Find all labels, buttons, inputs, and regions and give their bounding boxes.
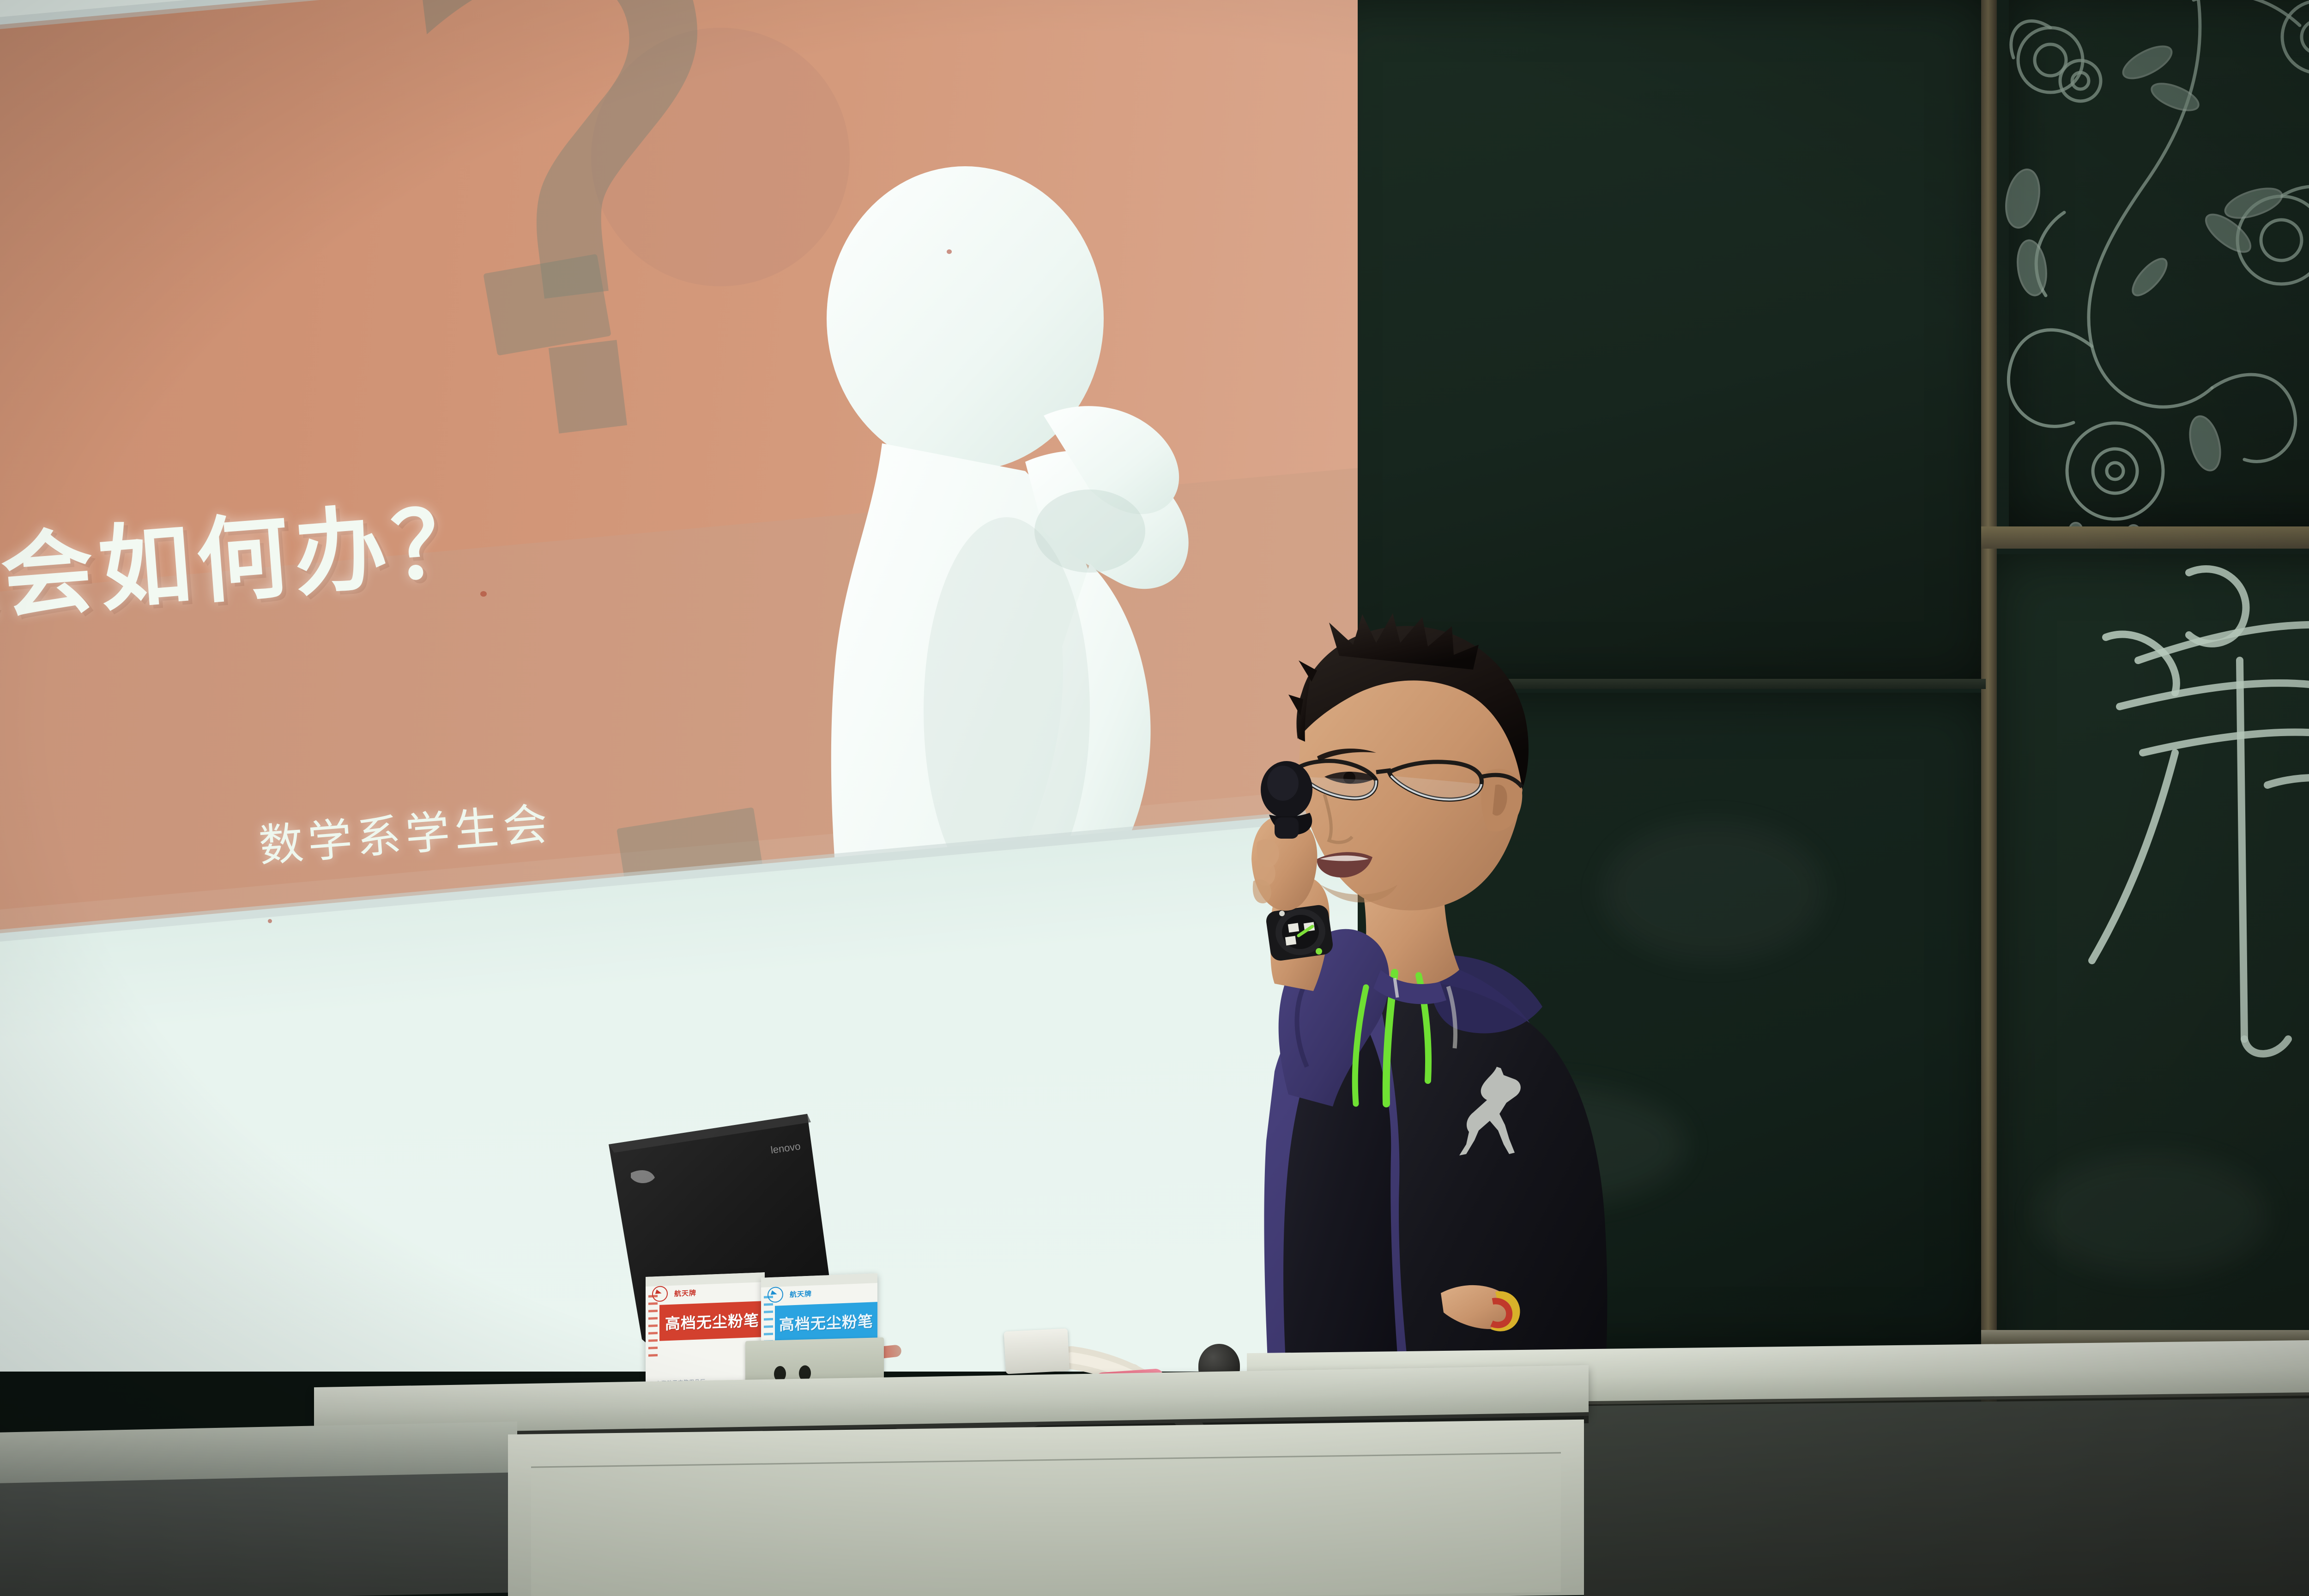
blackboard-frame-horizontal-1	[1981, 526, 2309, 549]
chalk-box-brand: 航天牌	[674, 1288, 696, 1298]
chalk-character-di	[2037, 554, 2309, 1062]
power-plug-adapter	[1004, 1328, 1070, 1374]
screen-speck	[947, 249, 952, 254]
chalk-box-brand: 航天牌	[790, 1288, 812, 1299]
podium-front-inner	[531, 1452, 1561, 1596]
screen-speck	[268, 919, 272, 923]
rocket-logo-icon	[768, 1287, 783, 1303]
lecture-hall-photo: 20070557 中国电信 资产编号 20070557 ?	[0, 0, 2309, 1596]
rocket-logo-icon	[652, 1286, 668, 1302]
chalk-box-product: 高档无尘粉笔	[779, 1309, 873, 1335]
blackboard-panel-left-top	[1316, 0, 1990, 688]
chalk-box-product: 高档无尘粉笔	[665, 1308, 759, 1334]
presenter	[1136, 600, 1736, 1409]
screen-speck	[480, 591, 487, 597]
chalk-vine-decoration-icon	[1995, 0, 2309, 550]
chalk-box-side-ticks	[648, 1295, 658, 1374]
podium-left-dark	[0, 1472, 517, 1596]
chalk-smudge	[2037, 1155, 2267, 1275]
desk-front-right	[1584, 1397, 2309, 1596]
